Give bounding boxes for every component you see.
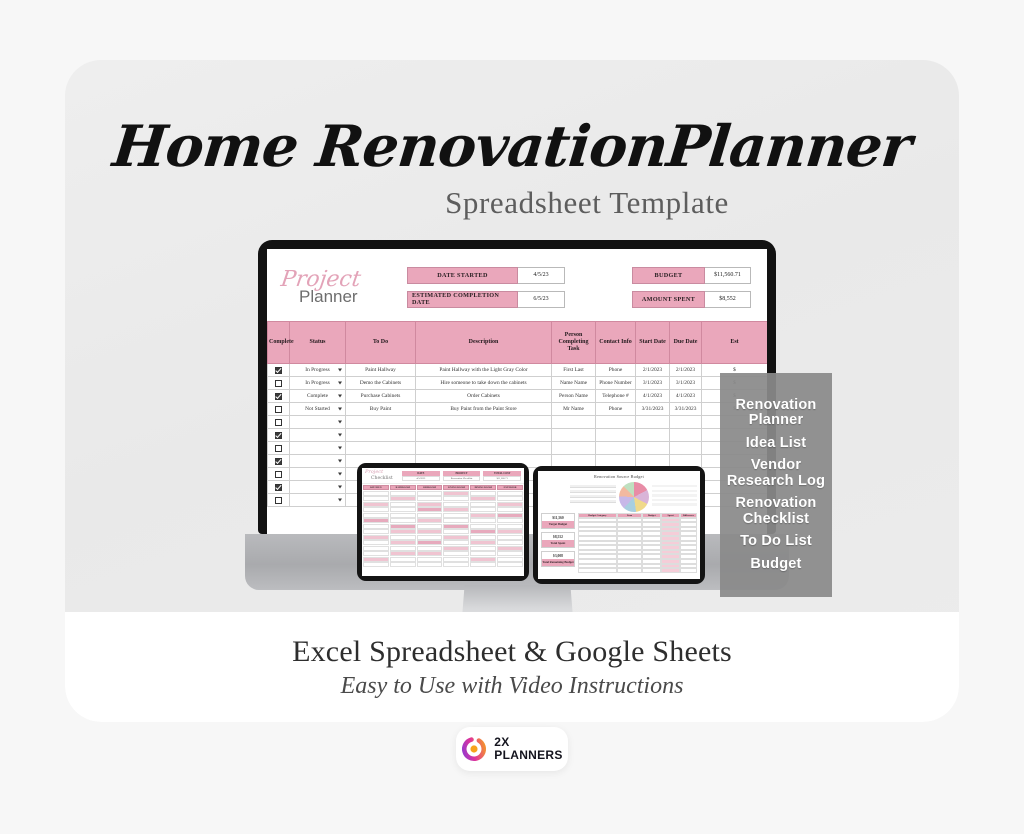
- row-checkbox-cell[interactable]: [268, 377, 290, 390]
- list-item[interactable]: [390, 502, 416, 507]
- column-header-due-date[interactable]: Due Date: [670, 322, 702, 364]
- budget-summary-top: [538, 479, 700, 513]
- checklist-columns: KITCHEN BATHROOM: [362, 484, 524, 576]
- field-value[interactable]: $11,560.71: [705, 267, 751, 284]
- table-row[interactable]: In Progress Paint Hallway Paint Hallway …: [268, 364, 768, 377]
- list-item[interactable]: [443, 551, 469, 556]
- list-item[interactable]: [390, 491, 416, 496]
- list-item[interactable]: [363, 502, 389, 507]
- row-todo[interactable]: [346, 442, 416, 455]
- list-item[interactable]: [363, 529, 389, 534]
- page-title: Home RenovationPlanner: [65, 118, 959, 175]
- list-item[interactable]: [363, 540, 389, 545]
- list-item[interactable]: [363, 496, 389, 501]
- chevron-down-icon[interactable]: [338, 421, 342, 424]
- checklist-header: Project Checklist DATE 4/5/2023 PROJECT …: [362, 468, 524, 484]
- list-item[interactable]: [497, 562, 523, 567]
- row-due-date[interactable]: 3/31/2023: [670, 403, 702, 416]
- row-person[interactable]: Name Name: [552, 377, 596, 390]
- checklist-column-kitchen: KITCHEN: [363, 485, 389, 575]
- logo-line-1: Project: [279, 269, 386, 291]
- list-item[interactable]: [417, 507, 443, 512]
- row-due-date[interactable]: 4/1/2023: [670, 390, 702, 403]
- field-date-started: DATE STARTED 4/5/23: [407, 267, 565, 284]
- field-value[interactable]: $8,552: [705, 291, 751, 308]
- table-header-row: Complete Status To Do Description Person…: [268, 322, 768, 364]
- list-item[interactable]: [417, 546, 443, 551]
- list-item[interactable]: [497, 524, 523, 529]
- list-item[interactable]: [470, 502, 496, 507]
- checklist-column-bedroom: BEDROOM: [417, 485, 443, 575]
- row-checkbox-cell[interactable]: [268, 364, 290, 377]
- list-item[interactable]: [417, 529, 443, 534]
- row-description[interactable]: Paint Hallway with the Light Gray Color: [416, 364, 552, 377]
- list-item[interactable]: [363, 562, 389, 567]
- brand-badge[interactable]: 2X PLANNERS: [456, 727, 568, 771]
- list-item[interactable]: [443, 535, 469, 540]
- list-item[interactable]: [390, 535, 416, 540]
- list-item[interactable]: [417, 491, 443, 496]
- row-checkbox-cell[interactable]: [268, 442, 290, 455]
- budget-body: $11,560 Target Budget $8,552 Total Spent…: [538, 513, 700, 579]
- budget-title: Renovation Source Budget: [538, 471, 700, 479]
- row-due-date[interactable]: 3/1/2023: [670, 377, 702, 390]
- chevron-down-icon[interactable]: [338, 408, 342, 411]
- list-item[interactable]: [470, 540, 496, 545]
- checkbox-icon[interactable]: [275, 484, 282, 491]
- column-header: KITCHEN: [363, 485, 389, 490]
- list-item[interactable]: [497, 557, 523, 562]
- list-item[interactable]: [363, 535, 389, 540]
- row-status[interactable]: [290, 416, 346, 429]
- summary-amount: $3,008: [542, 552, 574, 559]
- tablet-left-screen: Project Checklist DATE 4/5/2023 PROJECT …: [362, 468, 524, 576]
- list-item[interactable]: [363, 491, 389, 496]
- product-card: Home RenovationPlanner Spreadsheet Templ…: [65, 60, 959, 722]
- checklist-logo: Project Checklist: [365, 470, 399, 481]
- budget-fields-group: BUDGET $11,560.71 AMOUNT SPENT $8,552: [632, 267, 751, 308]
- column-header: BEDROOM: [417, 485, 443, 490]
- checklist-field-date: DATE 4/5/2023: [402, 471, 440, 481]
- row-person[interactable]: [552, 442, 596, 455]
- list-item[interactable]: [417, 524, 443, 529]
- row-status[interactable]: In Progress: [290, 377, 346, 390]
- column-header-person[interactable]: Person Completing Task: [552, 322, 596, 364]
- chevron-down-icon[interactable]: [338, 499, 342, 502]
- column-header: BATHROOM: [390, 485, 416, 490]
- sidebar-item-renovation-planner[interactable]: Renovation Planner: [726, 398, 826, 429]
- list-item[interactable]: [497, 513, 523, 518]
- field-label: AMOUNT SPENT: [632, 291, 705, 308]
- row-status[interactable]: [290, 468, 346, 481]
- row-checkbox-cell[interactable]: [268, 429, 290, 442]
- row-start-date[interactable]: [636, 429, 670, 442]
- list-item[interactable]: [470, 491, 496, 496]
- checkbox-icon[interactable]: [275, 458, 282, 465]
- column-header-todo[interactable]: To Do: [346, 322, 416, 364]
- checklist-field-total-cost: TOTAL COST $11,560.71: [483, 471, 521, 481]
- checkbox-icon[interactable]: [275, 367, 282, 374]
- row-description[interactable]: Buy Paint from the Paint Store: [416, 403, 552, 416]
- column-header: LIVING ROOM: [443, 485, 469, 490]
- brand-badge-text: 2X PLANNERS: [494, 736, 562, 761]
- row-description[interactable]: [416, 429, 552, 442]
- list-item[interactable]: [443, 507, 469, 512]
- field-value[interactable]: 6/5/23: [518, 291, 565, 308]
- sidebar-item-budget[interactable]: Budget: [750, 557, 801, 573]
- table-row[interactable]: [268, 429, 768, 442]
- list-item[interactable]: [417, 535, 443, 540]
- row-start-date[interactable]: [636, 416, 670, 429]
- checkbox-icon[interactable]: [275, 380, 282, 387]
- list-item[interactable]: [417, 518, 443, 523]
- row-person[interactable]: Person Name: [552, 390, 596, 403]
- row-checkbox-cell[interactable]: [268, 481, 290, 494]
- row-person[interactable]: [552, 416, 596, 429]
- row-status[interactable]: Complete: [290, 390, 346, 403]
- summary-remaining-budget: $3,008 Total Remaining Budget: [541, 551, 575, 567]
- row-description[interactable]: [416, 442, 552, 455]
- list-item[interactable]: [417, 496, 443, 501]
- list-item[interactable]: [470, 513, 496, 518]
- sidebar-item-idea-list[interactable]: Idea List: [746, 436, 807, 452]
- row-checkbox-cell[interactable]: [268, 390, 290, 403]
- row-person[interactable]: Mr Name: [552, 403, 596, 416]
- checklist-column-exterior: EXTERIOR: [497, 485, 523, 575]
- summary-amount: $8,552: [542, 533, 574, 540]
- row-checkbox-cell[interactable]: [268, 416, 290, 429]
- row-due-date[interactable]: 2/1/2023: [670, 364, 702, 377]
- row-contact[interactable]: [596, 442, 636, 455]
- table-row[interactable]: In Progress Demo the Cabinets Hire someo…: [268, 377, 768, 390]
- summary-amount: $11,560: [542, 514, 574, 521]
- list-item[interactable]: [443, 540, 469, 545]
- checkbox-icon[interactable]: [275, 406, 282, 413]
- chevron-down-icon[interactable]: [338, 486, 342, 489]
- row-start-date[interactable]: 2/1/2023: [636, 364, 670, 377]
- list-item[interactable]: [390, 562, 416, 567]
- summary-label: Target Budget: [542, 521, 574, 528]
- table-row[interactable]: Complete Purchase Cabinets Order Cabinet…: [268, 390, 768, 403]
- field-amount-spent: AMOUNT SPENT $8,552: [632, 291, 751, 308]
- list-item[interactable]: [390, 540, 416, 545]
- column-header-contact-info[interactable]: Contact Info: [596, 322, 636, 364]
- list-item[interactable]: [363, 507, 389, 512]
- hero-title-block: Home RenovationPlanner Spreadsheet Templ…: [65, 118, 959, 221]
- list-item[interactable]: [470, 529, 496, 534]
- chevron-down-icon[interactable]: [338, 434, 342, 437]
- date-fields-group: DATE STARTED 4/5/23 ESTIMATED COMPLETION…: [407, 267, 565, 308]
- legend-entry: [652, 503, 697, 505]
- project-planner-logo: Project Planner: [277, 269, 385, 305]
- list-item[interactable]: [470, 557, 496, 562]
- row-status[interactable]: [290, 455, 346, 468]
- list-item[interactable]: [363, 524, 389, 529]
- list-item[interactable]: [470, 496, 496, 501]
- legend-entry: [652, 485, 697, 487]
- field-label: BUDGET: [632, 267, 705, 284]
- budget-legend: [652, 480, 697, 511]
- row-contact[interactable]: Phone: [596, 364, 636, 377]
- summary-total-spent: $8,552 Total Spent: [541, 532, 575, 548]
- checklist-column-living-room: LIVING ROOM: [443, 485, 469, 575]
- row-start-date[interactable]: 3/1/2023: [636, 377, 670, 390]
- list-item[interactable]: [390, 513, 416, 518]
- row-todo[interactable]: Purchase Cabinets: [346, 390, 416, 403]
- row-person[interactable]: First Last: [552, 364, 596, 377]
- list-item[interactable]: [443, 524, 469, 529]
- list-item[interactable]: [443, 502, 469, 507]
- chevron-down-icon[interactable]: [338, 395, 342, 398]
- row-checkbox-cell[interactable]: [268, 468, 290, 481]
- list-item[interactable]: [470, 551, 496, 556]
- checklist-field-project: PROJECT Renovation Checklist: [443, 471, 481, 481]
- list-item[interactable]: [443, 557, 469, 562]
- budget-table-row[interactable]: [578, 568, 697, 573]
- list-item[interactable]: [470, 518, 496, 523]
- field-budget: BUDGET $11,560.71: [632, 267, 751, 284]
- field-value[interactable]: $11,560.71: [483, 476, 521, 481]
- table-row[interactable]: [268, 442, 768, 455]
- input-line[interactable]: [570, 495, 616, 498]
- brand-line-2: PLANNERS: [494, 749, 562, 762]
- row-status[interactable]: [290, 481, 346, 494]
- spreadsheet-header: Project Planner DATE STARTED 4/5/23 ESTI…: [267, 249, 767, 321]
- list-item[interactable]: [363, 551, 389, 556]
- legend-entry: [652, 490, 697, 492]
- checklist-logo-line-1: Project: [365, 469, 383, 475]
- list-item[interactable]: [390, 551, 416, 556]
- tablet-left-mockup: Project Checklist DATE 4/5/2023 PROJECT …: [357, 463, 529, 581]
- row-contact[interactable]: Phone Number: [596, 377, 636, 390]
- row-due-date[interactable]: [670, 442, 702, 455]
- field-value[interactable]: 4/5/23: [518, 267, 565, 284]
- list-item[interactable]: [443, 518, 469, 523]
- list-item[interactable]: [497, 496, 523, 501]
- list-item[interactable]: [363, 513, 389, 518]
- budget-pie-chart: [619, 482, 649, 512]
- tablet-right-screen: Renovation Source Budget: [538, 471, 700, 579]
- list-item[interactable]: [363, 557, 389, 562]
- column-header: EXTERIOR: [497, 485, 523, 490]
- legend-entry: [652, 494, 697, 496]
- table-row[interactable]: [268, 416, 768, 429]
- budget-input-lines: [570, 480, 616, 511]
- column-header-start-date[interactable]: Start Date: [636, 322, 670, 364]
- chevron-down-icon[interactable]: [338, 473, 342, 476]
- checklist-column-dining-room: DINING ROOM: [470, 485, 496, 575]
- row-start-date[interactable]: 4/1/2023: [636, 390, 670, 403]
- list-item[interactable]: [417, 551, 443, 556]
- sidebar-item-to-do-list[interactable]: To Do List: [740, 534, 812, 550]
- input-line[interactable]: [570, 500, 616, 503]
- summary-label: Total Remaining Budget: [542, 559, 574, 566]
- chevron-down-icon[interactable]: [338, 460, 342, 463]
- list-item[interactable]: [443, 496, 469, 501]
- list-item[interactable]: [390, 557, 416, 562]
- row-checkbox-cell[interactable]: [268, 494, 290, 507]
- row-todo[interactable]: Buy Paint: [346, 403, 416, 416]
- summary-target-budget: $11,560 Target Budget: [541, 513, 575, 529]
- list-item[interactable]: [417, 502, 443, 507]
- summary-label: Total Spent: [542, 540, 574, 547]
- row-due-date[interactable]: [670, 429, 702, 442]
- row-todo[interactable]: Paint Hallway: [346, 364, 416, 377]
- row-due-date[interactable]: [670, 416, 702, 429]
- list-item[interactable]: [390, 529, 416, 534]
- list-item[interactable]: [417, 562, 443, 567]
- checklist-logo-line-2: Checklist: [371, 476, 399, 481]
- row-contact[interactable]: Telephone #: [596, 390, 636, 403]
- list-item[interactable]: [443, 562, 469, 567]
- row-todo[interactable]: [346, 416, 416, 429]
- field-estimated-completion-date: ESTIMATED COMPLETION DATE 6/5/23: [407, 291, 565, 308]
- sidebar-item-renovation-checklist[interactable]: Renovation Checklist: [726, 496, 826, 527]
- list-item[interactable]: [443, 513, 469, 518]
- list-item[interactable]: [497, 546, 523, 551]
- list-item[interactable]: [470, 524, 496, 529]
- checkbox-icon[interactable]: [275, 393, 282, 400]
- column-header-complete[interactable]: Complete: [268, 322, 290, 364]
- checklist-column-bathroom: BATHROOM: [390, 485, 416, 575]
- budget-summary-boxes: $11,560 Target Budget $8,552 Total Spent…: [541, 513, 575, 579]
- budget-table: Budget Category Item Budget Spent Differ…: [578, 513, 697, 579]
- row-description[interactable]: Hire someone to take down the cabinets: [416, 377, 552, 390]
- list-item[interactable]: [417, 513, 443, 518]
- checkbox-icon[interactable]: [275, 445, 282, 452]
- checkbox-icon[interactable]: [275, 419, 282, 426]
- field-value[interactable]: 4/5/2023: [402, 476, 440, 481]
- list-item[interactable]: [390, 518, 416, 523]
- list-item[interactable]: [497, 551, 523, 556]
- list-item[interactable]: [363, 546, 389, 551]
- list-item[interactable]: [497, 518, 523, 523]
- column-header: DINING ROOM: [470, 485, 496, 490]
- row-contact[interactable]: [596, 416, 636, 429]
- table-row[interactable]: Not Started Buy Paint Buy Paint from the…: [268, 403, 768, 416]
- chevron-down-icon[interactable]: [338, 382, 342, 385]
- list-item[interactable]: [363, 518, 389, 523]
- row-start-date[interactable]: 3/31/2023: [636, 403, 670, 416]
- list-item[interactable]: [497, 529, 523, 534]
- row-status[interactable]: [290, 494, 346, 507]
- list-item[interactable]: [497, 540, 523, 545]
- row-todo[interactable]: [346, 429, 416, 442]
- list-item[interactable]: [417, 540, 443, 545]
- list-item[interactable]: [390, 524, 416, 529]
- column-header-description[interactable]: Description: [416, 322, 552, 364]
- sheet-tabs-overlay: Renovation Planner Idea List Vendor Rese…: [720, 373, 832, 597]
- legend-entry: [652, 499, 697, 501]
- row-description[interactable]: [416, 416, 552, 429]
- column-header-status[interactable]: Status: [290, 322, 346, 364]
- chevron-down-icon[interactable]: [338, 447, 342, 450]
- row-contact[interactable]: [596, 429, 636, 442]
- list-item[interactable]: [390, 507, 416, 512]
- chevron-down-icon[interactable]: [338, 369, 342, 372]
- list-item[interactable]: [443, 529, 469, 534]
- row-todo[interactable]: Demo the Cabinets: [346, 377, 416, 390]
- list-item[interactable]: [497, 491, 523, 496]
- row-status[interactable]: In Progress: [290, 364, 346, 377]
- list-item[interactable]: [497, 502, 523, 507]
- list-item[interactable]: [390, 546, 416, 551]
- list-item[interactable]: [443, 546, 469, 551]
- checkbox-icon[interactable]: [275, 497, 282, 504]
- footer-band: Excel Spreadsheet & Google Sheets Easy t…: [65, 612, 959, 722]
- row-description[interactable]: Order Cabinets: [416, 390, 552, 403]
- page-subtitle: Spreadsheet Template: [65, 185, 959, 221]
- checkbox-icon[interactable]: [275, 432, 282, 439]
- row-status[interactable]: [290, 429, 346, 442]
- checkbox-icon[interactable]: [275, 471, 282, 478]
- list-item[interactable]: [470, 562, 496, 567]
- field-label: ESTIMATED COMPLETION DATE: [407, 291, 518, 308]
- row-status[interactable]: Not Started: [290, 403, 346, 416]
- budget-logo: [541, 480, 567, 511]
- input-line[interactable]: [570, 485, 616, 488]
- row-checkbox-cell[interactable]: [268, 455, 290, 468]
- row-person[interactable]: [552, 429, 596, 442]
- column-header-est[interactable]: Est: [702, 322, 768, 364]
- list-item[interactable]: [443, 491, 469, 496]
- row-start-date[interactable]: [636, 442, 670, 455]
- list-item[interactable]: [497, 535, 523, 540]
- list-item[interactable]: [470, 546, 496, 551]
- list-item[interactable]: [497, 507, 523, 512]
- footer-subheadline: Easy to Use with Video Instructions: [341, 673, 684, 700]
- row-contact[interactable]: Phone: [596, 403, 636, 416]
- row-status[interactable]: [290, 442, 346, 455]
- row-checkbox-cell[interactable]: [268, 403, 290, 416]
- list-item[interactable]: [470, 535, 496, 540]
- input-line[interactable]: [570, 490, 616, 493]
- sidebar-item-vendor-research-log[interactable]: Vendor Research Log: [726, 458, 826, 489]
- list-item[interactable]: [470, 507, 496, 512]
- footer-headline: Excel Spreadsheet & Google Sheets: [292, 635, 732, 669]
- list-item[interactable]: [417, 557, 443, 562]
- gradient-ring-icon: [461, 736, 487, 762]
- field-value[interactable]: Renovation Checklist: [443, 476, 481, 481]
- field-label: DATE STARTED: [407, 267, 518, 284]
- list-item[interactable]: [390, 496, 416, 501]
- tablet-right-mockup: Renovation Source Budget: [533, 466, 705, 584]
